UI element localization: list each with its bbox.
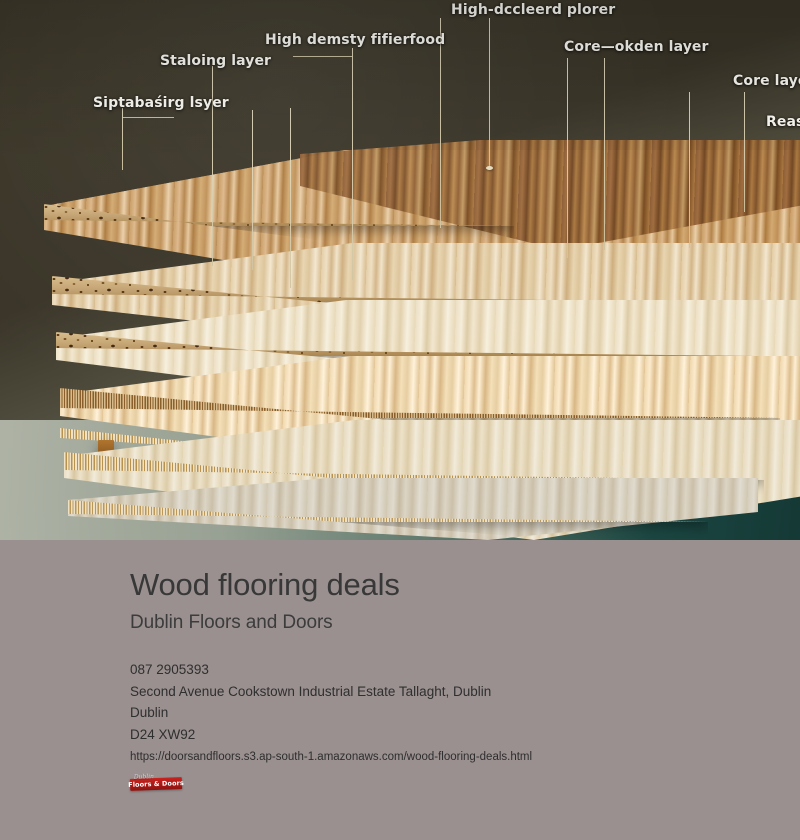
leader-line-5: [352, 48, 353, 280]
company-logo[interactable]: Floors & Doors Dublin: [130, 774, 183, 792]
callout-label-4: Core—okden layer: [564, 39, 709, 55]
leader-line-7: [489, 18, 490, 168]
source-url[interactable]: https://doorsandfloors.s3.ap-south-1.ama…: [130, 751, 800, 763]
callout-label-0: Siptabaśirg lsyer: [93, 95, 229, 111]
leader-line-1-horizontal: [122, 117, 174, 118]
company-name: Dublin Floors and Doors: [130, 612, 800, 634]
callout-label-5: Core layer: [733, 73, 800, 89]
callout-label-1: Staloing layer: [160, 53, 271, 69]
info-panel: Wood flooring deals Dublin Floors and Do…: [0, 540, 800, 840]
contact-address-line2: Dublin: [130, 702, 800, 724]
callout-label-6: Reasl: [766, 114, 800, 130]
leader-line-9: [604, 58, 605, 250]
leader-line-3: [252, 110, 253, 270]
contact-address-line1: Second Avenue Cookstown Industrial Estat…: [130, 681, 800, 703]
page-root: Siptabaśirg lsyer Staloing layer High de…: [0, 0, 800, 840]
leader-line-4: [290, 108, 291, 288]
page-title: Wood flooring deals: [130, 568, 800, 603]
contact-block: 087 2905393 Second Avenue Cookstown Indu…: [130, 659, 800, 746]
leader-line-5-horizontal: [293, 56, 353, 57]
leader-line-10: [689, 92, 690, 248]
flooring-layer-stack: [0, 0, 800, 540]
leader-line-6: [440, 18, 441, 228]
hero-image: Siptabaśirg lsyer Staloing layer High de…: [0, 0, 800, 540]
callout-label-3: High-dccleerd plorer: [451, 2, 615, 18]
callout-label-2: High demsty fifierfood: [265, 32, 445, 48]
contact-phone: 087 2905393: [130, 659, 800, 681]
leader-line-8: [567, 58, 568, 258]
contact-postcode: D24 XW92: [130, 724, 800, 746]
logo-script-text: Dublin: [134, 773, 154, 781]
leader-dot-7: [486, 166, 493, 170]
leader-line-11: [744, 92, 745, 212]
